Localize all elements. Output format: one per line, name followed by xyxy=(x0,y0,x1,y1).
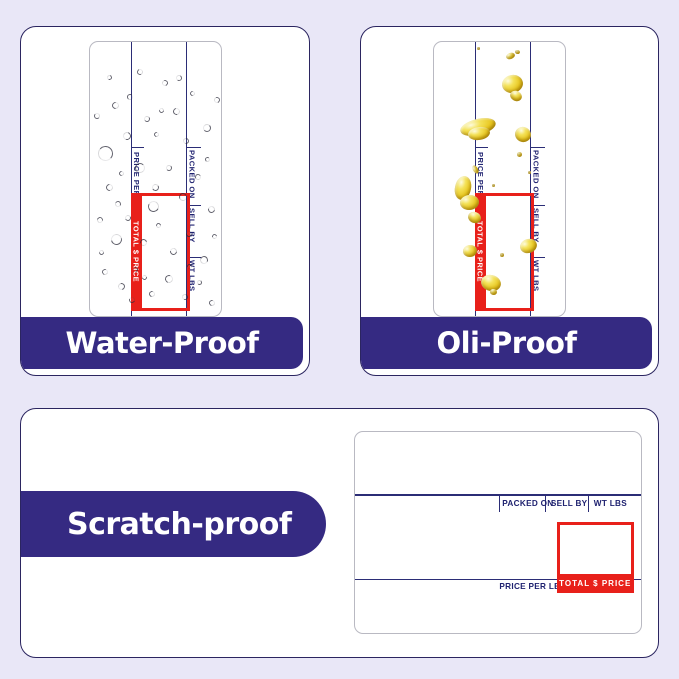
banner-label: Scratch-proof xyxy=(67,507,291,542)
water-droplet xyxy=(199,255,209,265)
water-droplet-overlay xyxy=(90,42,221,316)
water-droplet xyxy=(104,183,114,193)
water-droplet xyxy=(207,205,217,215)
water-droplet xyxy=(176,74,183,81)
label-field-total-price: TOTAL $ PRICE xyxy=(559,579,631,588)
meat-scale-label-vertical: PRICE PER LB PACKED ON SELL BY WT LBS TO… xyxy=(89,41,222,317)
meat-scale-label-horizontal: PACKED ON SELL BY WT LBS PRICE PER LB TO… xyxy=(354,431,642,634)
water-droplet xyxy=(194,173,201,180)
water-droplet xyxy=(148,290,156,298)
water-droplet xyxy=(158,107,165,114)
oil-droplet xyxy=(508,89,523,103)
water-droplet xyxy=(143,116,150,123)
water-droplet xyxy=(106,74,113,81)
water-droplet xyxy=(213,96,221,104)
oil-droplet xyxy=(462,244,478,258)
water-droplet xyxy=(186,263,193,270)
water-droplet xyxy=(168,246,178,256)
water-droplet xyxy=(136,68,144,76)
water-droplet xyxy=(111,101,121,111)
water-droplet xyxy=(189,90,196,97)
water-droplet xyxy=(171,106,181,116)
water-droplet xyxy=(146,199,160,213)
panel-banner-oil-proof: Oli-Proof xyxy=(360,317,652,369)
water-droplet xyxy=(132,266,139,273)
panel-banner-water-proof: Water-Proof xyxy=(20,317,303,369)
oil-droplet xyxy=(517,152,522,157)
feature-panel-scratch-proof: PACKED ON SELL BY WT LBS PRICE PER LB TO… xyxy=(20,408,659,658)
total-price-strip: TOTAL $ PRICE xyxy=(557,574,634,593)
feature-panel-water-proof: PRICE PER LB PACKED ON SELL BY WT LBS TO… xyxy=(20,26,310,376)
oil-droplet xyxy=(528,171,531,174)
water-droplet xyxy=(208,298,216,306)
panel-banner-scratch-proof: Scratch-proof xyxy=(20,491,326,557)
water-droplet xyxy=(178,192,188,202)
water-droplet xyxy=(166,165,172,171)
feature-panel-oil-proof: PRICE PER LB PACKED ON SELL BY WT LBS TO… xyxy=(360,26,659,376)
water-droplet xyxy=(101,268,109,276)
water-droplet xyxy=(203,124,211,132)
water-droplet xyxy=(95,216,103,224)
water-droplet xyxy=(181,293,189,301)
water-droplet xyxy=(118,170,125,177)
water-droplet xyxy=(153,131,160,138)
label-field-price-per-lb: PRICE PER LB xyxy=(499,582,560,591)
water-droplet xyxy=(98,249,105,256)
water-droplet xyxy=(125,214,133,222)
water-droplet xyxy=(121,131,132,142)
water-droplet xyxy=(184,230,192,238)
water-droplet xyxy=(182,137,190,145)
tick-packed-on xyxy=(499,496,500,512)
banner-label: Oli-Proof xyxy=(436,326,576,360)
water-droplet xyxy=(109,232,124,247)
oil-droplet xyxy=(471,165,480,175)
water-droplet xyxy=(154,222,161,229)
water-droplet xyxy=(141,274,148,281)
water-droplet xyxy=(135,163,145,173)
oil-droplet xyxy=(500,253,504,257)
water-droplet xyxy=(163,274,174,285)
label-field-packed-on: PACKED ON xyxy=(502,499,553,508)
water-droplet xyxy=(114,200,121,207)
oil-droplet-overlay xyxy=(434,42,565,316)
oil-droplet xyxy=(477,47,480,50)
oil-droplet xyxy=(519,237,539,256)
water-droplet xyxy=(205,157,211,163)
water-droplet xyxy=(138,238,148,248)
water-droplet xyxy=(211,233,218,240)
water-droplet xyxy=(151,184,160,193)
oil-droplet xyxy=(492,184,495,187)
tick-wt-lbs xyxy=(588,496,589,512)
label-field-sell-by: SELL BY xyxy=(551,499,588,508)
oil-droplet xyxy=(466,210,482,225)
oil-droplet xyxy=(459,194,479,211)
water-droplet xyxy=(97,146,113,162)
water-droplet xyxy=(94,113,100,119)
oil-droplet xyxy=(513,125,533,144)
water-droplet xyxy=(197,280,202,285)
label-field-wt-lbs: WT LBS xyxy=(594,499,627,508)
oil-droplet xyxy=(515,50,521,55)
water-droplet xyxy=(161,79,169,87)
meat-scale-label-vertical: PRICE PER LB PACKED ON SELL BY WT LBS TO… xyxy=(433,41,566,317)
water-droplet xyxy=(128,296,136,304)
banner-label: Water-Proof xyxy=(66,326,259,360)
water-droplet xyxy=(126,94,133,101)
water-droplet xyxy=(116,282,126,292)
